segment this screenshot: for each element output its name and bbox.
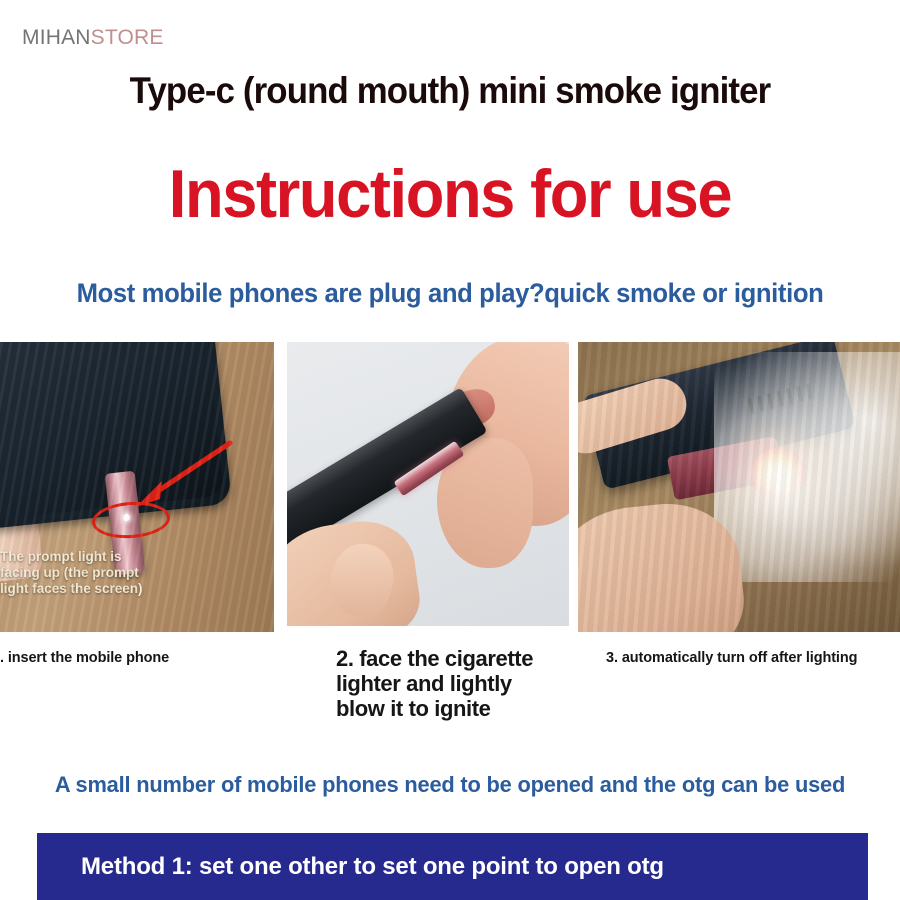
step-1-caption: 1. insert the mobile phone xyxy=(0,650,169,666)
step-3-photo xyxy=(578,342,900,632)
method-1-banner: Method 1: set one other to set one point… xyxy=(37,833,868,900)
lead-text-plug-and-play: Most mobile phones are plug and play?qui… xyxy=(77,278,824,309)
prompt-light-led xyxy=(123,514,130,521)
smoke-plume xyxy=(714,352,900,582)
hand-shape xyxy=(0,348,44,586)
brand-logo: MIHANSTORE xyxy=(22,26,164,50)
product-title: Type-c (round mouth) mini smoke igniter xyxy=(27,70,873,112)
step-1-overlay-text: The prompt light is facing up (the promp… xyxy=(0,549,143,597)
step-2-caption: 2. face the cigarette lighter and lightl… xyxy=(336,646,533,721)
step-1-scene: The prompt light is facing up (the promp… xyxy=(0,342,274,632)
step-3-caption: 3. automatically turn off after lighting xyxy=(606,650,857,666)
step-1-photo: The prompt light is facing up (the promp… xyxy=(0,342,274,632)
speaker-grill xyxy=(747,382,819,414)
lead-text-otg: A small number of mobile phones need to … xyxy=(55,772,845,798)
instruction-page: MIHANSTORE Type-c (round mouth) mini smo… xyxy=(0,0,900,900)
step-photo-strip: The prompt light is facing up (the promp… xyxy=(0,342,900,634)
highlight-ellipse-annotation xyxy=(91,499,171,540)
step-3-scene xyxy=(578,342,900,632)
igniter-device xyxy=(667,436,785,501)
brand-name-primary: MIHAN xyxy=(22,26,91,49)
phone-shape xyxy=(0,342,232,529)
red-arrow-annotation xyxy=(112,437,237,517)
glowing-coil xyxy=(750,448,806,498)
page-headline: Instructions for use xyxy=(32,155,869,233)
igniter-device xyxy=(105,471,145,576)
hand-shape xyxy=(578,497,750,632)
brand-name-secondary: STORE xyxy=(91,26,164,49)
finger-shape xyxy=(578,372,693,460)
phone-shape xyxy=(582,342,856,490)
step-2-photo xyxy=(287,342,569,626)
method-1-banner-text: Method 1: set one other to set one point… xyxy=(81,853,664,881)
step-2-scene xyxy=(287,342,569,626)
